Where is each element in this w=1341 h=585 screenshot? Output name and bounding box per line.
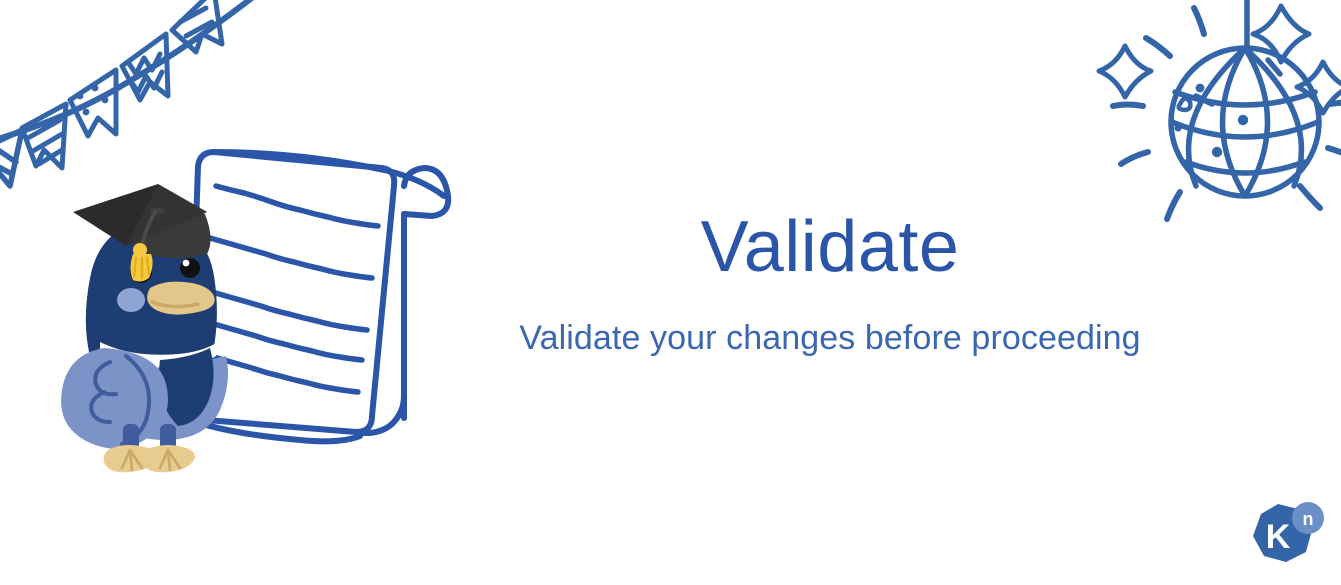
logo-badge-letter-n: n — [1303, 509, 1314, 529]
page-subtitle: Validate your changes before proceeding — [430, 286, 1230, 358]
slide-canvas: Validate Validate your changes before pr… — [0, 0, 1341, 585]
page-title: Validate — [430, 210, 1230, 286]
text-block: Validate Validate your changes before pr… — [430, 210, 1230, 358]
logo-letter-k: K — [1266, 518, 1291, 556]
kahoot-logo[interactable]: K n — [1248, 500, 1326, 572]
